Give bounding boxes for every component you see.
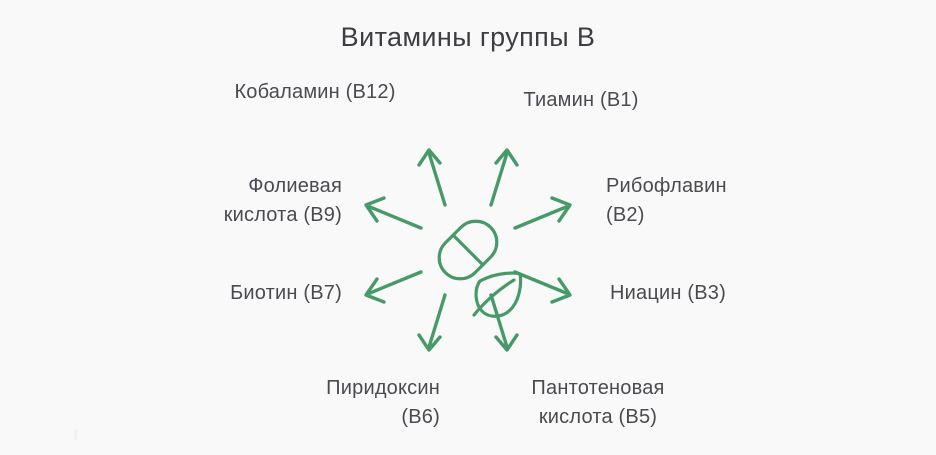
label-riboflavin-b2: Рибофлавин (B2) [606, 172, 816, 230]
radial-arrow-cluster [328, 110, 608, 390]
arrow-to-b3 [515, 272, 570, 302]
label-tiamin-b1: Тиамин (B1) [466, 86, 696, 115]
page-title: Витамины группы B [0, 22, 936, 53]
label-piridoksin-b6: Пиридоксин (B6) [240, 374, 440, 432]
arrow-to-b2 [515, 198, 570, 228]
arrow-to-b7 [366, 272, 421, 302]
label-biotin-b7: Биотин (B7) [150, 279, 342, 308]
radial-arrows-svg [328, 110, 608, 390]
label-kobalamin-b12: Кобаламин (B12) [180, 78, 450, 107]
label-niacin-b3: Ниацин (B3) [610, 279, 820, 308]
arrow-to-b5 [491, 295, 517, 350]
label-folievaya-kislota-b9: Фолиевая кислота (B9) [150, 172, 342, 230]
arrow-to-b9 [366, 198, 421, 228]
arrow-to-b6 [419, 295, 445, 350]
arrow-to-b12 [419, 150, 445, 205]
stray-artifact [74, 430, 77, 440]
label-pantotenovaya-kislota-b5: Пантотеновая кислота (B5) [498, 374, 698, 432]
vitamin-b-radial-infographic: Витамины группы B [0, 0, 936, 455]
arrow-to-b1 [491, 150, 517, 205]
